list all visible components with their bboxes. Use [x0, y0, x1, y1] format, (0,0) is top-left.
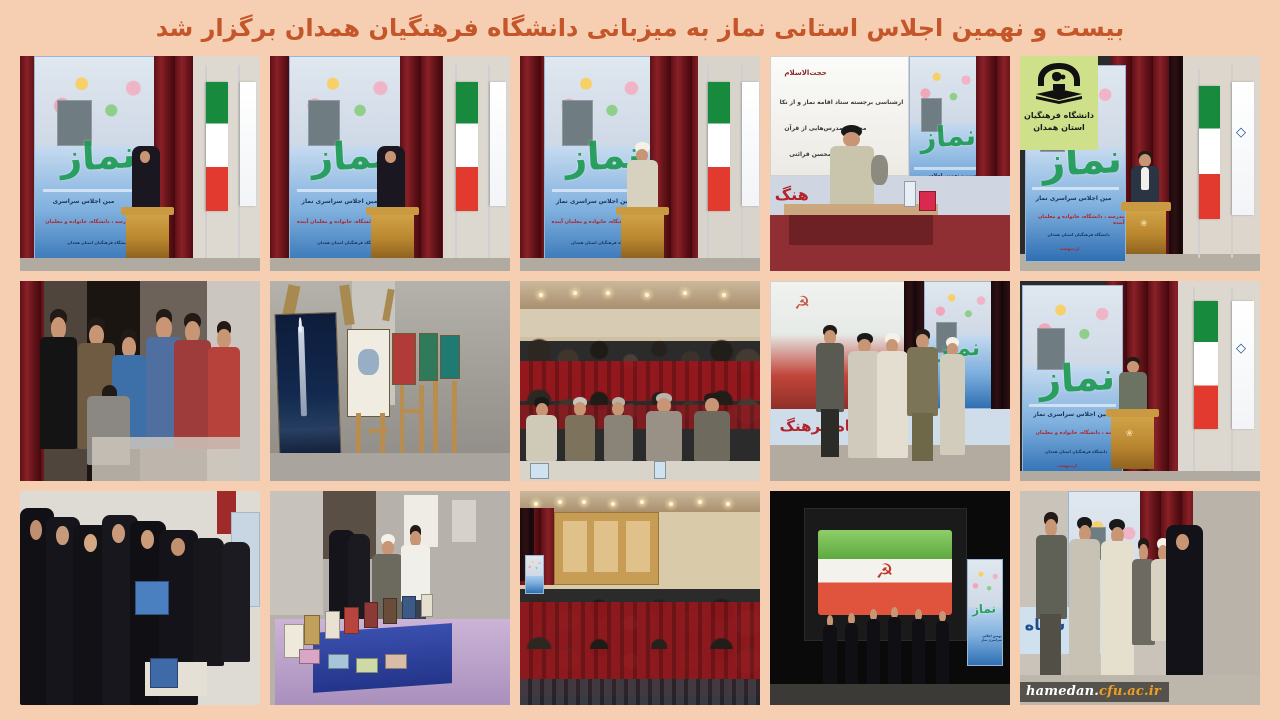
- photo-5-scene: نماز مین اجلاس سراسری مدرسه ، دانشگاه، خ…: [20, 56, 260, 271]
- gallery-photo-3[interactable]: نماز مین اجلاس سراسری نماز مدرسه ، دانشگ…: [520, 56, 760, 271]
- photo-3-scene: نماز مین اجلاس سراسری نماز مدرسه ، دانشگ…: [520, 56, 760, 271]
- page-header: بیست و نهمین اجلاس استانی نماز به میزبان…: [0, 0, 1280, 56]
- university-logo-overlay: دانشگاه فرهنگیان استان همدان: [1020, 56, 1098, 150]
- photo-10-scene: [20, 281, 260, 481]
- gallery-photo-15[interactable]: [20, 491, 260, 705]
- photo-14-scene: [270, 491, 510, 705]
- gallery-photo-14[interactable]: [270, 491, 510, 705]
- gallery-photo-8[interactable]: [520, 281, 760, 481]
- gallery-photo-9[interactable]: [270, 281, 510, 481]
- photo-7-scene: ☭ نماز گاه فرهنگ: [770, 281, 1010, 481]
- photo-gallery: نماز مین اجلاس سراسری نماز مدرسه ، دانشگ…: [0, 56, 1280, 720]
- logo-line-1: دانشگاه فرهنگیان: [1024, 111, 1094, 122]
- photo-4-scene: نماز مین اجلاس سراسری نماز مدرسه ، دانشگ…: [270, 56, 510, 271]
- photo-6-scene: نماز مین اجلاس سراسری نماز مدرسه ، دانشگ…: [1020, 281, 1260, 481]
- site-watermark: hamedan. cfu.ac.ir: [1020, 682, 1169, 702]
- gallery-photo-11[interactable]: شگاه: [1020, 491, 1260, 705]
- photo-2-scene: حجت‌الاسلام ارشناسی برجسته ستاد اقامه نم…: [770, 56, 1010, 271]
- page-title: بیست و نهمین اجلاس استانی نماز به میزبان…: [156, 15, 1124, 41]
- gallery-photo-5[interactable]: نماز مین اجلاس سراسری مدرسه ، دانشگاه، خ…: [20, 56, 260, 271]
- photo-8-scene: [520, 281, 760, 481]
- photo-15-scene: [20, 491, 260, 705]
- gallery-photo-4[interactable]: نماز مین اجلاس سراسری نماز مدرسه ، دانشگ…: [270, 56, 510, 271]
- photo-9-scene: [270, 281, 510, 481]
- gallery-photo-13[interactable]: [520, 491, 760, 705]
- gallery-photo-2[interactable]: حجت‌الاسلام ارشناسی برجسته ستاد اقامه نم…: [770, 56, 1010, 271]
- gallery-photo-1[interactable]: نماز مین اجلاس سراسری نماز مدرسه ، دانشگ…: [1020, 56, 1260, 271]
- farhangian-logo-icon: [1032, 60, 1086, 110]
- gallery-photo-10[interactable]: [20, 281, 260, 481]
- watermark-prefix: hamedan.: [1026, 684, 1099, 699]
- logo-line-2: استان همدان: [1033, 123, 1085, 134]
- gallery-photo-7[interactable]: ☭ نماز گاه فرهنگ: [770, 281, 1010, 481]
- photo-11-scene: شگاه: [1020, 491, 1260, 705]
- gallery-photo-12[interactable]: ☭ نماز نهمین اجلاس سراسری نماز: [770, 491, 1010, 705]
- photo-12-scene: ☭ نماز نهمین اجلاس سراسری نماز: [770, 491, 1010, 705]
- gallery-photo-6[interactable]: نماز مین اجلاس سراسری نماز مدرسه ، دانشگ…: [1020, 281, 1260, 481]
- photo-13-scene: [520, 491, 760, 705]
- watermark-suffix: cfu.ac.ir: [1099, 684, 1161, 699]
